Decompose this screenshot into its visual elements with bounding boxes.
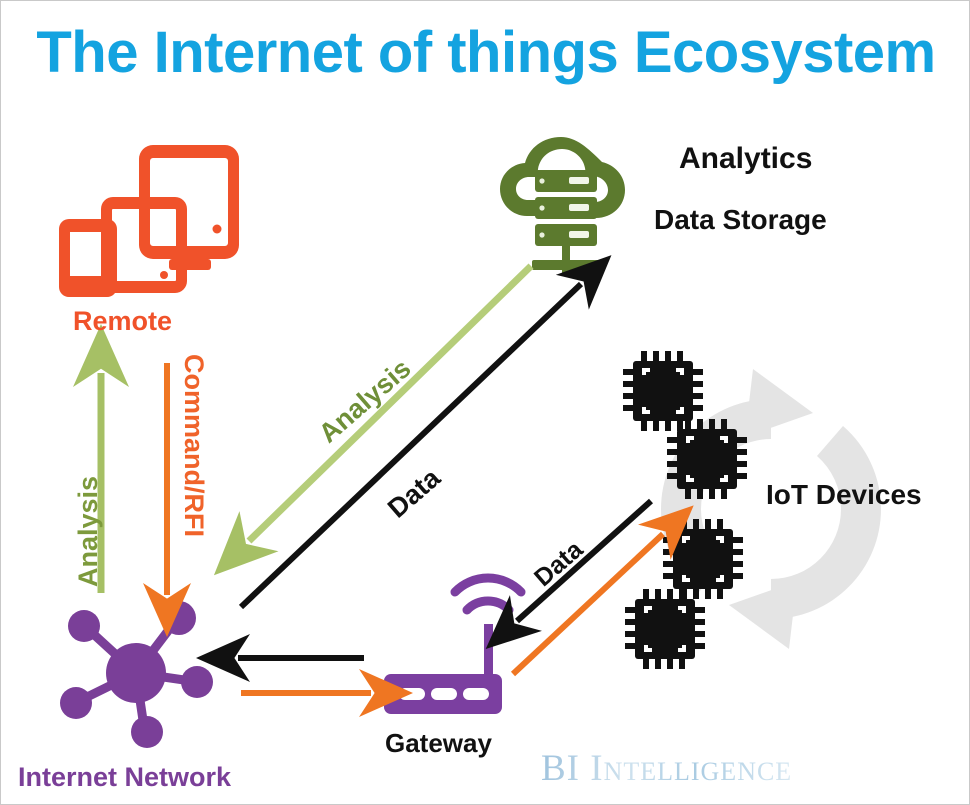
gateway-label: Gateway bbox=[385, 728, 492, 759]
microchip-icon-2 bbox=[667, 419, 747, 499]
data-storage-label: Data Storage bbox=[654, 204, 827, 236]
microchip-icon-4 bbox=[625, 589, 705, 669]
internet-network-label: Internet Network bbox=[18, 762, 231, 793]
flow-label-command-rfi: Command/RFI bbox=[178, 354, 209, 537]
flow-data-to-cloud bbox=[241, 284, 581, 607]
iot-ecosystem-diagram: The Internet of things Ecosystem bbox=[0, 0, 970, 805]
microchip-icon-3 bbox=[663, 519, 743, 599]
cloud-server-icon bbox=[500, 137, 625, 274]
devices-icon bbox=[59, 145, 239, 297]
remote-label: Remote bbox=[73, 306, 172, 337]
diagram-graphics bbox=[1, 1, 970, 805]
network-hub-icon bbox=[60, 601, 213, 748]
analytics-label: Analytics bbox=[679, 142, 812, 176]
iot-devices-label: IoT Devices bbox=[766, 479, 922, 511]
flow-label-analysis-up: Analysis bbox=[73, 476, 104, 587]
brand-watermark: BI Intelligence bbox=[541, 747, 792, 790]
router-icon bbox=[384, 578, 521, 714]
